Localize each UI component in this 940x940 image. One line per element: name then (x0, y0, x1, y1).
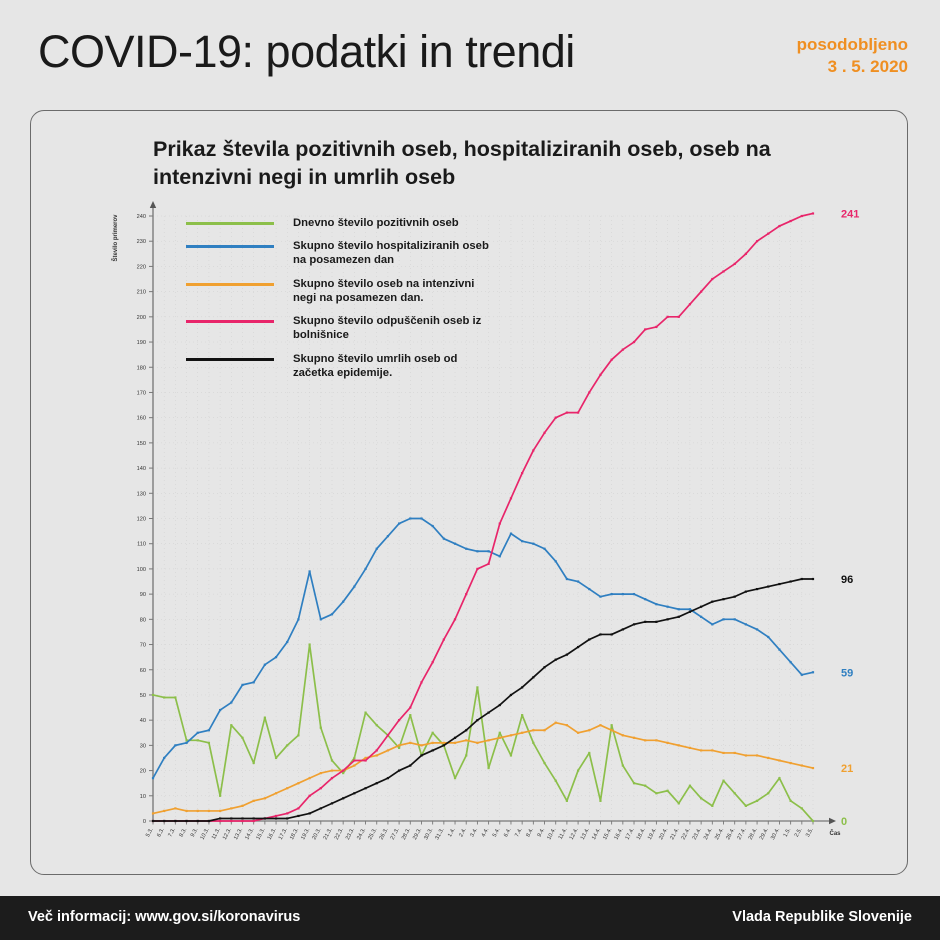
legend-color-swatch (186, 283, 274, 286)
svg-text:17.3.: 17.3. (278, 827, 289, 841)
svg-text:0: 0 (143, 819, 146, 825)
svg-text:23.4.: 23.4. (692, 827, 703, 841)
svg-text:27.3.: 27.3. (390, 827, 401, 841)
svg-text:22.3.: 22.3. (334, 827, 345, 841)
svg-text:30.4.: 30.4. (770, 827, 781, 841)
svg-text:200: 200 (137, 315, 146, 321)
svg-text:16.3.: 16.3. (267, 827, 278, 841)
svg-text:110: 110 (137, 542, 146, 548)
svg-text:22.4.: 22.4. (681, 827, 692, 841)
chart-series: 21 (152, 722, 853, 815)
updated-label: posodobljeno (797, 34, 908, 56)
svg-text:5.3.: 5.3. (145, 827, 155, 838)
svg-text:26.3.: 26.3. (379, 827, 390, 841)
series-end-value: 21 (841, 763, 853, 775)
svg-text:60: 60 (140, 668, 146, 674)
svg-text:24.3.: 24.3. (356, 827, 367, 841)
svg-text:26.4.: 26.4. (725, 827, 736, 841)
y-axis-title: Število primerov (111, 214, 119, 262)
svg-text:19.4.: 19.4. (647, 827, 658, 841)
svg-text:18.4.: 18.4. (636, 827, 647, 841)
svg-text:170: 170 (137, 390, 146, 396)
svg-text:90: 90 (140, 592, 146, 598)
svg-text:8.3.: 8.3. (179, 827, 189, 838)
svg-text:30.3.: 30.3. (423, 827, 434, 841)
svg-text:210: 210 (137, 290, 146, 296)
svg-text:31.3.: 31.3. (434, 827, 445, 841)
svg-text:21.3.: 21.3. (323, 827, 334, 841)
svg-text:130: 130 (137, 491, 146, 497)
svg-text:50: 50 (140, 693, 146, 699)
svg-text:30: 30 (140, 743, 146, 749)
legend-color-swatch (186, 358, 274, 361)
svg-text:230: 230 (137, 239, 146, 245)
legend-label: Skupno število hospitaliziranih oseb na … (293, 239, 493, 267)
svg-text:20.4.: 20.4. (658, 827, 669, 841)
svg-text:7.3.: 7.3. (167, 827, 177, 838)
svg-text:9.3.: 9.3. (190, 827, 200, 838)
svg-text:16.4.: 16.4. (613, 827, 624, 841)
svg-text:1.5.: 1.5. (783, 827, 793, 838)
svg-text:240: 240 (137, 214, 146, 220)
chart-y-axis-ticks: 0102030405060708090100110120130140150160… (137, 214, 153, 825)
svg-text:10: 10 (140, 794, 146, 800)
svg-text:3.5.: 3.5. (805, 827, 815, 838)
svg-text:23.3.: 23.3. (345, 827, 356, 841)
series-end-value: 241 (841, 208, 859, 220)
legend-item: Skupno število oseb na intenzivni negi n… (186, 277, 493, 305)
svg-text:70: 70 (140, 643, 146, 649)
svg-text:140: 140 (137, 466, 146, 472)
svg-text:24.4.: 24.4. (703, 827, 714, 841)
chart-legend: Dnevno število pozitivnih osebSkupno šte… (186, 216, 493, 389)
svg-text:15.3.: 15.3. (255, 827, 266, 841)
svg-text:19.3.: 19.3. (300, 827, 311, 841)
svg-text:14.3.: 14.3. (244, 827, 255, 841)
page-footer: Več informacij: www.gov.si/koronavirus V… (0, 896, 940, 940)
svg-text:25.4.: 25.4. (714, 827, 725, 841)
x-axis-title: Čas (829, 830, 841, 837)
legend-label: Skupno število umrlih oseb od začetka ep… (293, 352, 493, 380)
svg-text:6.3.: 6.3. (156, 827, 166, 838)
svg-text:20: 20 (140, 769, 146, 775)
svg-text:5.4.: 5.4. (492, 827, 502, 838)
svg-text:27.4.: 27.4. (737, 827, 748, 841)
svg-text:13.3.: 13.3. (233, 827, 244, 841)
svg-text:220: 220 (137, 264, 146, 270)
chart-card: Prikaz števila pozitivnih oseb, hospital… (30, 110, 908, 875)
svg-text:21.4.: 21.4. (669, 827, 680, 841)
svg-text:3.4.: 3.4. (469, 827, 479, 838)
svg-text:13.4.: 13.4. (580, 827, 591, 841)
page-header: COVID-19: podatki in trendi posodobljeno… (0, 0, 940, 100)
legend-color-swatch (186, 222, 274, 225)
svg-text:120: 120 (137, 517, 146, 523)
legend-label: Skupno število oseb na intenzivni negi n… (293, 277, 493, 305)
svg-text:8.4.: 8.4. (525, 827, 535, 838)
updated-date: 3 . 5. 2020 (797, 56, 908, 78)
legend-color-swatch (186, 245, 274, 248)
svg-text:1.4.: 1.4. (447, 827, 457, 838)
svg-text:28.3.: 28.3. (401, 827, 412, 841)
svg-text:10.3.: 10.3. (200, 827, 211, 841)
svg-text:11.3.: 11.3. (211, 827, 222, 841)
svg-text:150: 150 (137, 441, 146, 447)
svg-text:190: 190 (137, 340, 146, 346)
chart-series: 96 (152, 574, 853, 822)
legend-label: Dnevno število pozitivnih oseb (293, 216, 459, 230)
svg-text:7.4.: 7.4. (514, 827, 524, 838)
updated-block: posodobljeno 3 . 5. 2020 (797, 34, 908, 79)
svg-text:29.4.: 29.4. (759, 827, 770, 841)
svg-text:25.3.: 25.3. (367, 827, 378, 841)
footer-organisation: Vlada Republike Slovenije (732, 909, 912, 925)
page-title: COVID-19: podatki in trendi (38, 26, 575, 78)
chart-x-axis-ticks: 5.3.6.3.7.3.8.3.9.3.10.3.11.3.12.3.13.3.… (145, 821, 815, 841)
svg-text:12.4.: 12.4. (569, 827, 580, 841)
svg-text:15.4.: 15.4. (602, 827, 613, 841)
series-end-value: 59 (841, 667, 853, 679)
svg-text:12.3.: 12.3. (222, 827, 233, 841)
legend-item: Skupno število umrlih oseb od začetka ep… (186, 352, 493, 380)
svg-text:40: 40 (140, 718, 146, 724)
legend-color-swatch (186, 320, 274, 323)
svg-text:10.4.: 10.4. (546, 827, 557, 841)
legend-item: Dnevno število pozitivnih oseb (186, 216, 493, 230)
svg-text:11.4.: 11.4. (558, 827, 569, 841)
svg-text:180: 180 (137, 365, 146, 371)
legend-label: Skupno število odpuščenih oseb iz bolniš… (293, 314, 493, 342)
legend-item: Skupno število hospitaliziranih oseb na … (186, 239, 493, 267)
svg-text:29.3.: 29.3. (412, 827, 423, 841)
svg-text:160: 160 (137, 416, 146, 422)
svg-text:20.3.: 20.3. (311, 827, 322, 841)
svg-text:80: 80 (140, 617, 146, 623)
svg-text:18.3.: 18.3. (289, 827, 300, 841)
footer-more-info: Več informacij: www.gov.si/koronavirus (28, 909, 300, 925)
svg-text:9.4.: 9.4. (537, 827, 547, 838)
svg-text:17.4.: 17.4. (625, 827, 636, 841)
svg-text:4.4.: 4.4. (481, 827, 491, 838)
svg-text:6.4.: 6.4. (503, 827, 513, 838)
svg-text:2.4.: 2.4. (458, 827, 468, 838)
svg-text:28.4.: 28.4. (748, 827, 759, 841)
svg-text:100: 100 (137, 567, 146, 573)
series-end-value: 96 (841, 574, 853, 586)
svg-text:14.4.: 14.4. (591, 827, 602, 841)
svg-text:2.5.: 2.5. (794, 827, 804, 838)
legend-item: Skupno število odpuščenih oseb iz bolniš… (186, 314, 493, 342)
series-end-value: 0 (841, 816, 847, 828)
